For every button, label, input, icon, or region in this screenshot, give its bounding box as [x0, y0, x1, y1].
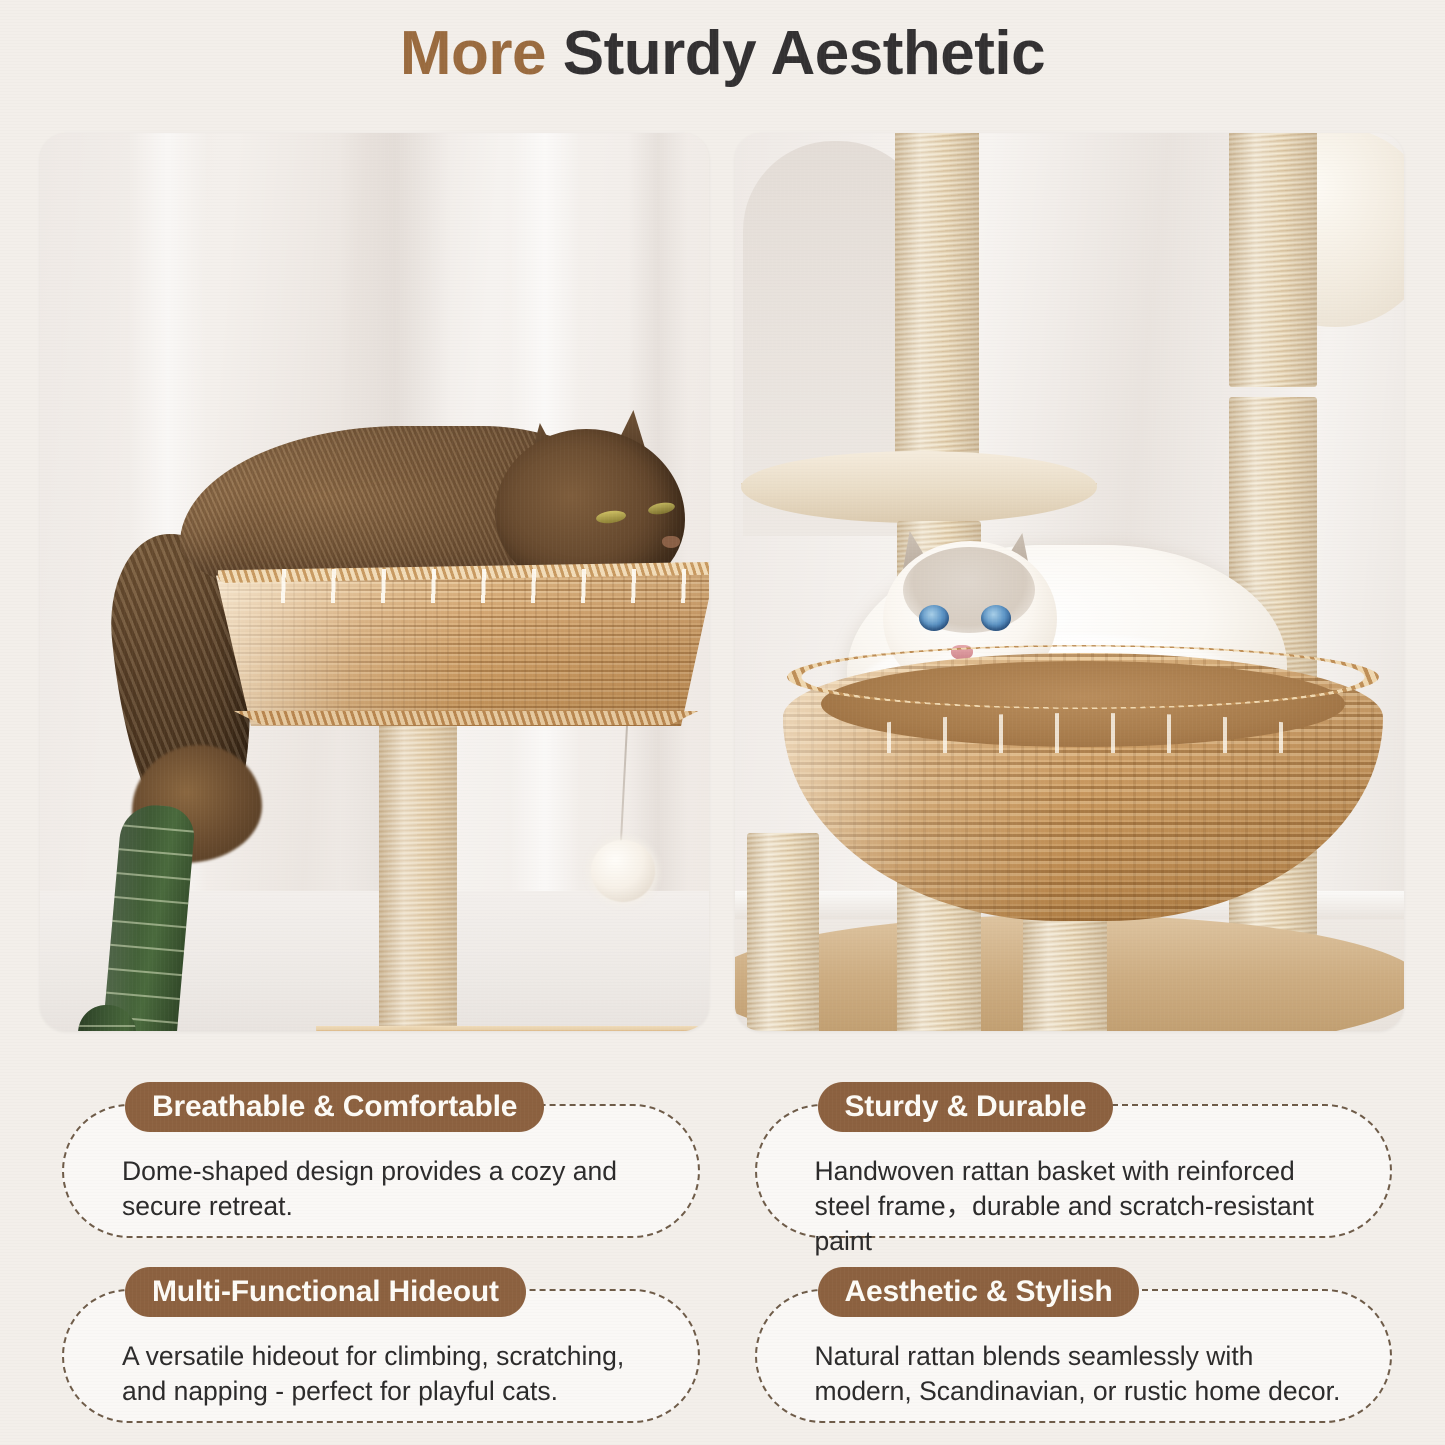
page-title: More Sturdy Aesthetic	[0, 18, 1445, 89]
title-main-text: Sturdy Aesthetic	[563, 19, 1045, 88]
feature-list: Breathable & Comfortable Dome-shaped des…	[62, 1082, 1392, 1439]
feature-item-multi-functional-hideout: Multi-Functional Hideout A versatile hid…	[62, 1267, 700, 1439]
sisal-scratching-post	[379, 711, 457, 1031]
basket-top-rim	[787, 645, 1379, 709]
basket-bottom-rim	[229, 711, 703, 725]
round-platform	[741, 451, 1097, 523]
oval-rattan-basket	[216, 566, 709, 726]
feature-badge-label: Multi-Functional Hideout	[152, 1275, 499, 1309]
cat-eye	[981, 605, 1011, 631]
feature-badge-label: Breathable & Comfortable	[152, 1090, 517, 1124]
sisal-scratching-post	[895, 133, 979, 473]
cat-nose	[662, 536, 680, 548]
photo-brown-tabby-cat-on-oval-rattan-basket	[40, 133, 709, 1031]
pompom-toy	[591, 840, 655, 902]
feature-item-aesthetic-stylish: Aesthetic & Stylish Natural rattan blend…	[755, 1267, 1393, 1439]
feature-description: A versatile hideout for climbing, scratc…	[122, 1339, 650, 1409]
sisal-scratching-post	[1229, 133, 1317, 387]
title-accent-word: More	[400, 19, 546, 88]
photo-white-ragdoll-cat-in-round-rattan-basket	[735, 133, 1404, 1031]
cat-eye	[919, 605, 949, 631]
product-photo-gallery	[40, 133, 1405, 1031]
feature-description: Handwoven rattan basket with reinforced …	[815, 1154, 1343, 1259]
feature-badge: Sturdy & Durable	[818, 1082, 1114, 1132]
feature-badge-label: Aesthetic & Stylish	[845, 1275, 1113, 1309]
sisal-scratching-post	[747, 833, 819, 1031]
wooden-shelf	[316, 1030, 709, 1031]
feature-badge: Aesthetic & Stylish	[818, 1267, 1140, 1317]
feature-badge-label: Sturdy & Durable	[845, 1090, 1087, 1124]
feature-item-sturdy-durable: Sturdy & Durable Handwoven rattan basket…	[755, 1082, 1393, 1254]
feature-item-breathable-comfortable: Breathable & Comfortable Dome-shaped des…	[62, 1082, 700, 1254]
feature-badge: Breathable & Comfortable	[125, 1082, 544, 1132]
feature-description: Natural rattan blends seamlessly with mo…	[815, 1339, 1343, 1409]
feature-description: Dome-shaped design provides a cozy and s…	[122, 1154, 650, 1224]
feature-badge: Multi-Functional Hideout	[125, 1267, 526, 1317]
